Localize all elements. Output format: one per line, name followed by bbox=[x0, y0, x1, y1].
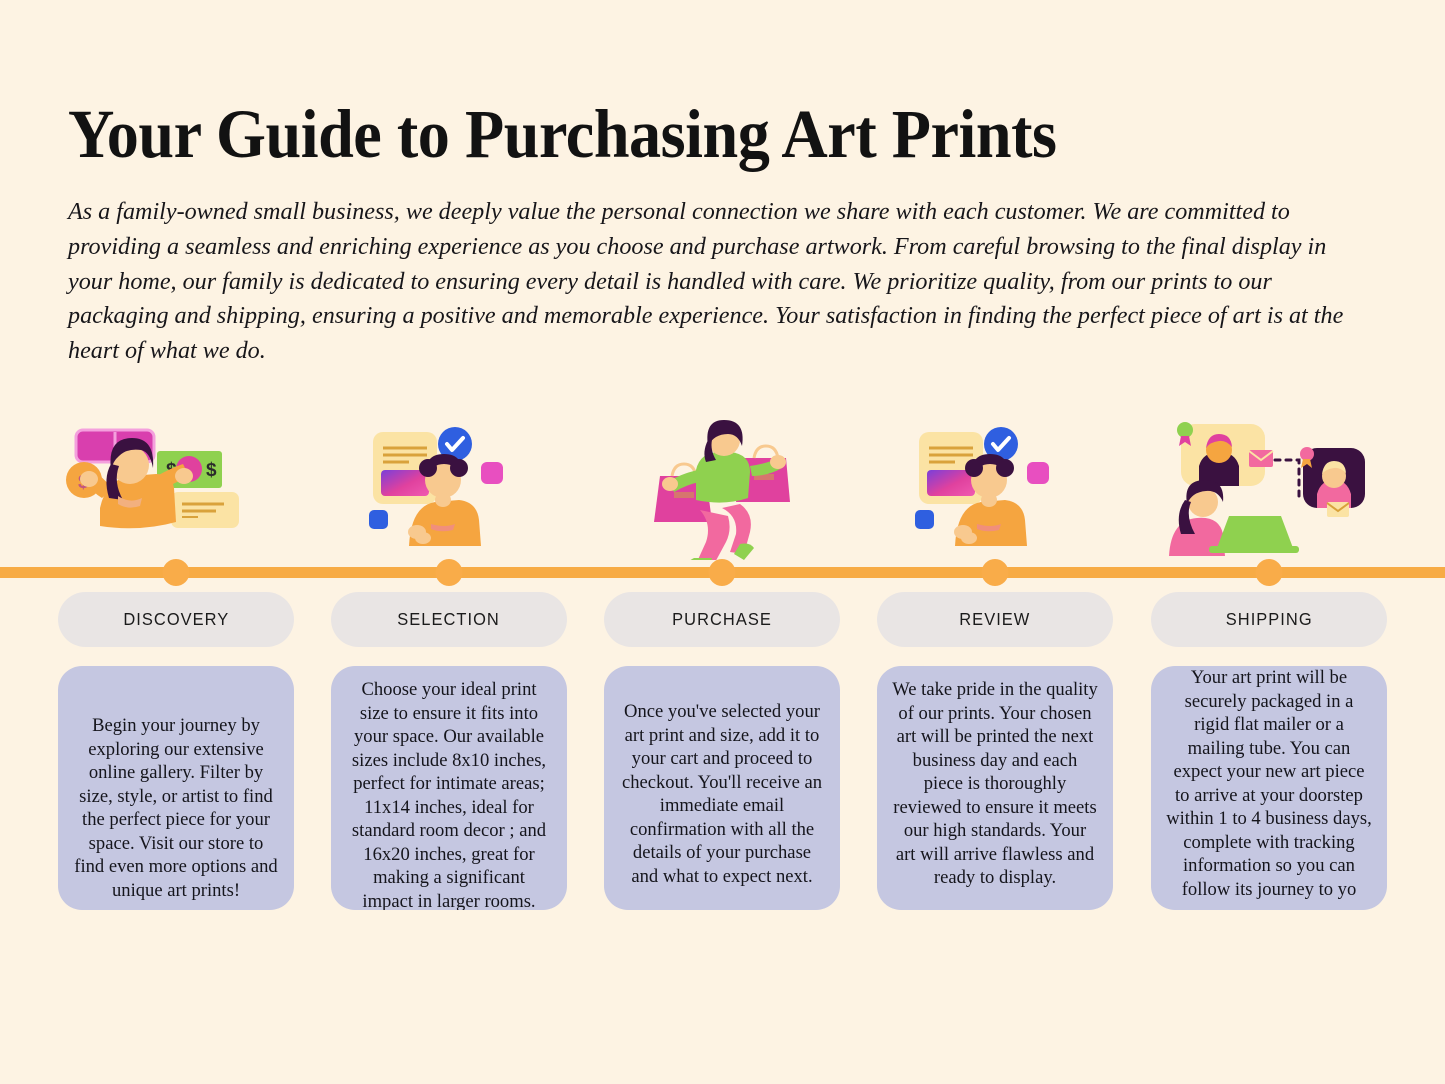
stage-label: PURCHASE bbox=[672, 609, 772, 630]
infographic-page: Your Guide to Purchasing Art Prints As a… bbox=[0, 0, 1445, 1084]
stage-pill-purchase[interactable]: PURCHASE bbox=[604, 592, 840, 647]
stage-pill-shipping[interactable]: SHIPPING bbox=[1151, 592, 1387, 647]
people-video-call-laptop-icon bbox=[1151, 418, 1387, 560]
step-shipping: SHIPPING Your art print will be securely… bbox=[1151, 418, 1387, 910]
stage-label: REVIEW bbox=[959, 609, 1030, 630]
header: Your Guide to Purchasing Art Prints As a… bbox=[68, 100, 1368, 369]
svg-text:$: $ bbox=[206, 460, 217, 481]
person-choosing-artwork-icon bbox=[331, 418, 567, 560]
person-with-shopping-bags-icon bbox=[604, 418, 840, 560]
stage-label: DISCOVERY bbox=[123, 609, 229, 630]
stage-description-review: We take pride in the quality of our prin… bbox=[877, 666, 1113, 910]
step-discovery: $ $ $ DISCOVERY bbox=[58, 418, 294, 910]
intro-paragraph: As a family-owned small business, we dee… bbox=[68, 195, 1366, 369]
stage-pill-discovery[interactable]: DISCOVERY bbox=[58, 592, 294, 647]
stage-description-shipping: Your art print will be securely packaged… bbox=[1151, 666, 1387, 910]
stage-pill-review[interactable]: REVIEW bbox=[877, 592, 1113, 647]
step-purchase: PURCHASE Once you've selected your art p… bbox=[604, 418, 840, 910]
person-with-money-icon: $ $ $ bbox=[58, 418, 294, 560]
stage-pill-selection[interactable]: SELECTION bbox=[331, 592, 567, 647]
step-selection: SELECTION Choose your ideal print size t… bbox=[331, 418, 567, 910]
page-title: Your Guide to Purchasing Art Prints bbox=[68, 100, 1277, 169]
stage-label: SHIPPING bbox=[1226, 609, 1313, 630]
stage-description-selection: Choose your ideal print size to ensure i… bbox=[331, 666, 567, 910]
step-review: REVIEW We take pride in the quality of o… bbox=[877, 418, 1113, 910]
stage-description-purchase: Once you've selected your art print and … bbox=[604, 666, 840, 910]
person-reviewing-artwork-icon bbox=[877, 418, 1113, 560]
stage-label: SELECTION bbox=[398, 609, 501, 630]
stage-description-discovery: Begin your journey by exploring our exte… bbox=[58, 666, 294, 910]
